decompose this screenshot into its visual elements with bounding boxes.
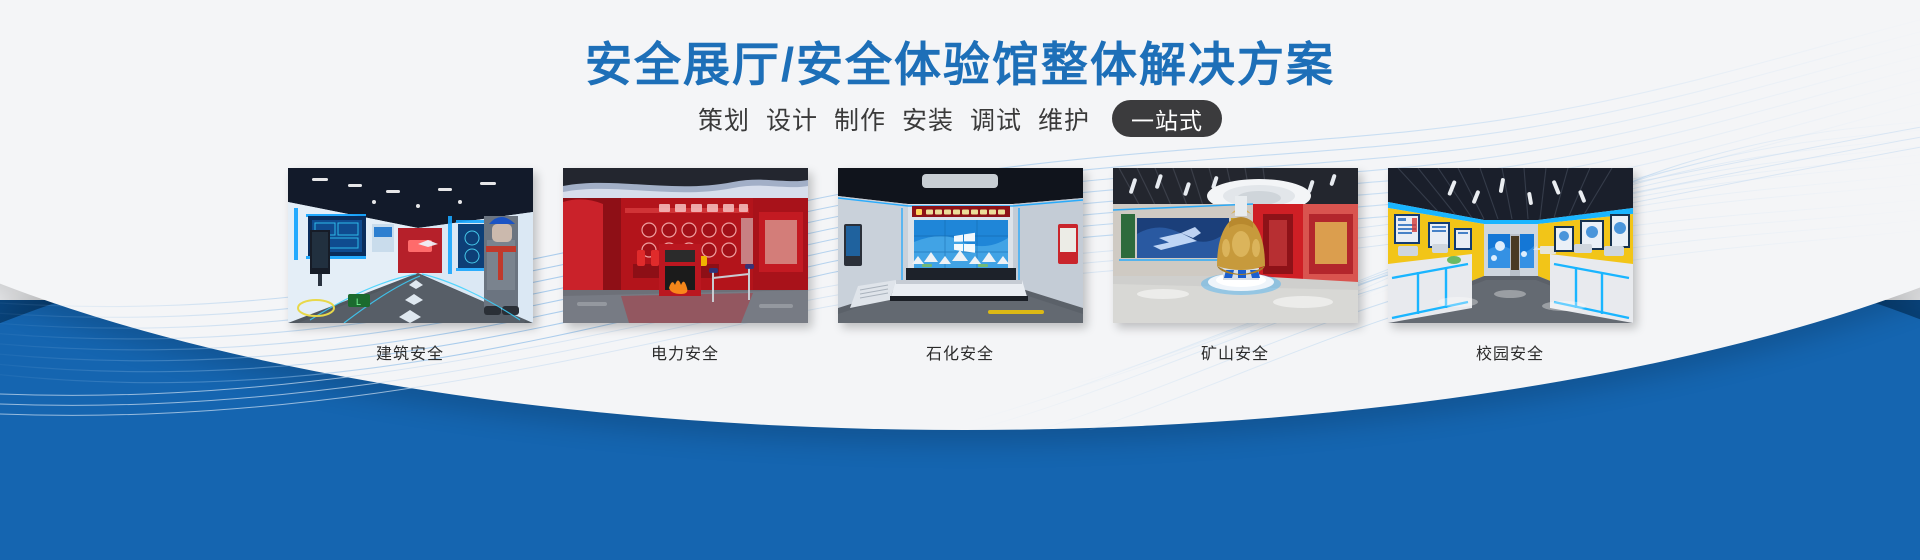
one-stop-badge: 一站式 [1112, 100, 1222, 137]
case-thumbnail-campus[interactable] [1388, 168, 1633, 323]
case-label-power: 电力安全 [651, 340, 719, 364]
case-label-construction: 建筑安全 [376, 340, 444, 364]
service-step-installation: 安装 [902, 101, 954, 137]
banner-root: 安全展厅/安全体验馆整体解决方案 策划 设计 制作 安装 调试 维护 一站式 [0, 0, 1920, 560]
case-thumbnail-mine[interactable] [1113, 168, 1358, 323]
page-title: 安全展厅/安全体验馆整体解决方案 [0, 26, 1920, 95]
case-card-petrochemical[interactable]: 石化安全 [838, 168, 1083, 364]
case-label-petrochemical: 石化安全 [926, 340, 994, 364]
service-step-design: 设计 [766, 101, 818, 137]
case-card-construction[interactable]: L 建筑安全 [288, 168, 533, 364]
case-card-mine[interactable]: 矿山安全 [1113, 168, 1358, 364]
case-thumbnail-petrochemical[interactable] [838, 168, 1083, 323]
service-step-commissioning: 调试 [970, 101, 1022, 137]
svg-text:L: L [356, 297, 361, 307]
case-card-campus[interactable]: 校园安全 [1388, 168, 1633, 364]
service-step-maintenance: 维护 [1038, 101, 1090, 137]
case-thumbnail-power[interactable] [563, 168, 808, 323]
case-label-mine: 矿山安全 [1201, 340, 1269, 364]
case-card-power[interactable]: 电力安全 [563, 168, 808, 364]
case-label-campus: 校园安全 [1476, 340, 1544, 364]
case-thumbnail-construction[interactable]: L [288, 168, 533, 323]
banner-content: 安全展厅/安全体验馆整体解决方案 策划 设计 制作 安装 调试 维护 一站式 [0, 0, 1920, 560]
service-step-planning: 策划 [698, 101, 750, 137]
subtitle-row: 策划 设计 制作 安装 调试 维护 一站式 [0, 100, 1920, 137]
case-card-list: L 建筑安全 [0, 168, 1920, 364]
service-step-production: 制作 [834, 101, 886, 137]
service-steps: 策划 设计 制作 安装 调试 维护 [698, 101, 1090, 137]
